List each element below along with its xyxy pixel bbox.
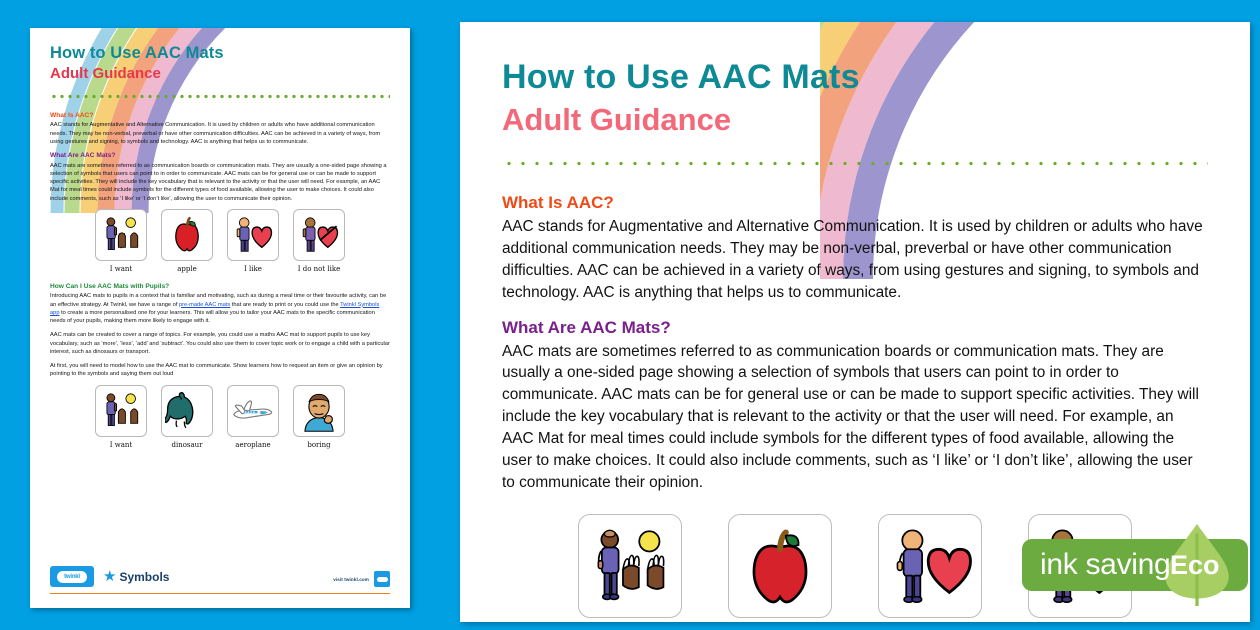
dotted-divider-small: [50, 94, 390, 99]
person-crossed-heart-icon: [293, 209, 345, 261]
symbol-cell: I like: [227, 209, 279, 273]
symbol-cell: aeroplane: [227, 385, 279, 449]
person-reaching-hands-icon: [95, 209, 147, 261]
symbol-cell: I like: [878, 514, 982, 622]
symbol-label: I like: [244, 265, 262, 273]
page-title: How to Use AAC Mats: [502, 58, 1208, 97]
symbol-cell: I want: [578, 514, 682, 622]
symbol-label: boring: [307, 441, 330, 449]
apple-icon: [728, 514, 832, 618]
symbol-cell: dinosaur: [161, 385, 213, 449]
body-what-are-aac-mats: AAC mats are sometimes referred to as co…: [502, 341, 1208, 494]
body-part-2: that are ready to print or you could use…: [230, 302, 340, 308]
ink-saving-eco-badge: ink saving Eco: [1022, 531, 1260, 597]
symbol-label: apple: [177, 265, 197, 273]
symbol-row-1-small: I want apple: [50, 209, 390, 273]
symbol-cell: apple: [728, 514, 832, 622]
symbol-label: I want: [110, 265, 132, 273]
link-pre-made-aac-mats[interactable]: pre-made AAC mats: [179, 302, 230, 308]
eco-label: Eco: [1170, 546, 1220, 584]
symbol-cell: I want: [95, 385, 147, 449]
symbol-label: I want: [110, 441, 132, 449]
bored-person-icon: [293, 385, 345, 437]
dinosaur-icon: [161, 385, 213, 437]
body-how-can-i-use-small: Introducing AAC mats to pupils in a cont…: [50, 292, 390, 325]
aeroplane-icon: [227, 385, 279, 437]
body-part-3: to create a more personalised one for yo…: [50, 310, 375, 324]
apple-icon: [161, 209, 213, 261]
symbol-cell: I want: [95, 209, 147, 273]
body-what-are-aac-mats-small: AAC mats are sometimes referred to as co…: [50, 162, 390, 203]
page-subtitle: Adult Guidance: [502, 102, 1208, 138]
body-what-is-aac-small: AAC stands for Augmentative and Alternat…: [50, 121, 390, 146]
preview-page-thumbnail[interactable]: How to Use AAC Mats Adult Guidance What …: [30, 28, 410, 608]
symbol-label: aeroplane: [235, 441, 270, 449]
heading-what-are-aac-mats-small: What Are AAC Mats?: [50, 152, 390, 160]
body-how-can-i-use-p2-small: AAC mats can be created to cover a range…: [50, 331, 390, 356]
heading-how-can-i-use-small: How Can I Use AAC Mats with Pupils?: [50, 283, 390, 291]
body-what-is-aac: AAC stands for Augmentative and Alternat…: [502, 216, 1208, 304]
dotted-divider: [502, 160, 1208, 167]
heading-what-is-aac-small: What Is AAC?: [50, 112, 390, 120]
symbol-label: I do not like: [298, 265, 341, 273]
person-reaching-hands-icon: [95, 385, 147, 437]
body-how-can-i-use-p3-small: At first, you will need to model how to …: [50, 362, 390, 379]
person-heart-icon: [878, 514, 982, 618]
person-heart-icon: [227, 209, 279, 261]
heading-what-are-aac-mats: What Are AAC Mats?: [502, 318, 1208, 338]
ink-saving-label: ink saving: [1040, 545, 1170, 585]
page-subtitle-small: Adult Guidance: [50, 65, 390, 82]
person-reaching-hands-icon: [578, 514, 682, 618]
symbol-cell: I do not like: [293, 209, 345, 273]
symbol-label: dinosaur: [171, 441, 202, 449]
page-title-small: How to Use AAC Mats: [50, 44, 390, 63]
symbol-cell: apple: [161, 209, 213, 273]
symbol-row-2-small: I want dinosaur: [50, 385, 390, 449]
heading-what-is-aac: What Is AAC?: [502, 193, 1208, 213]
symbol-cell: boring: [293, 385, 345, 449]
